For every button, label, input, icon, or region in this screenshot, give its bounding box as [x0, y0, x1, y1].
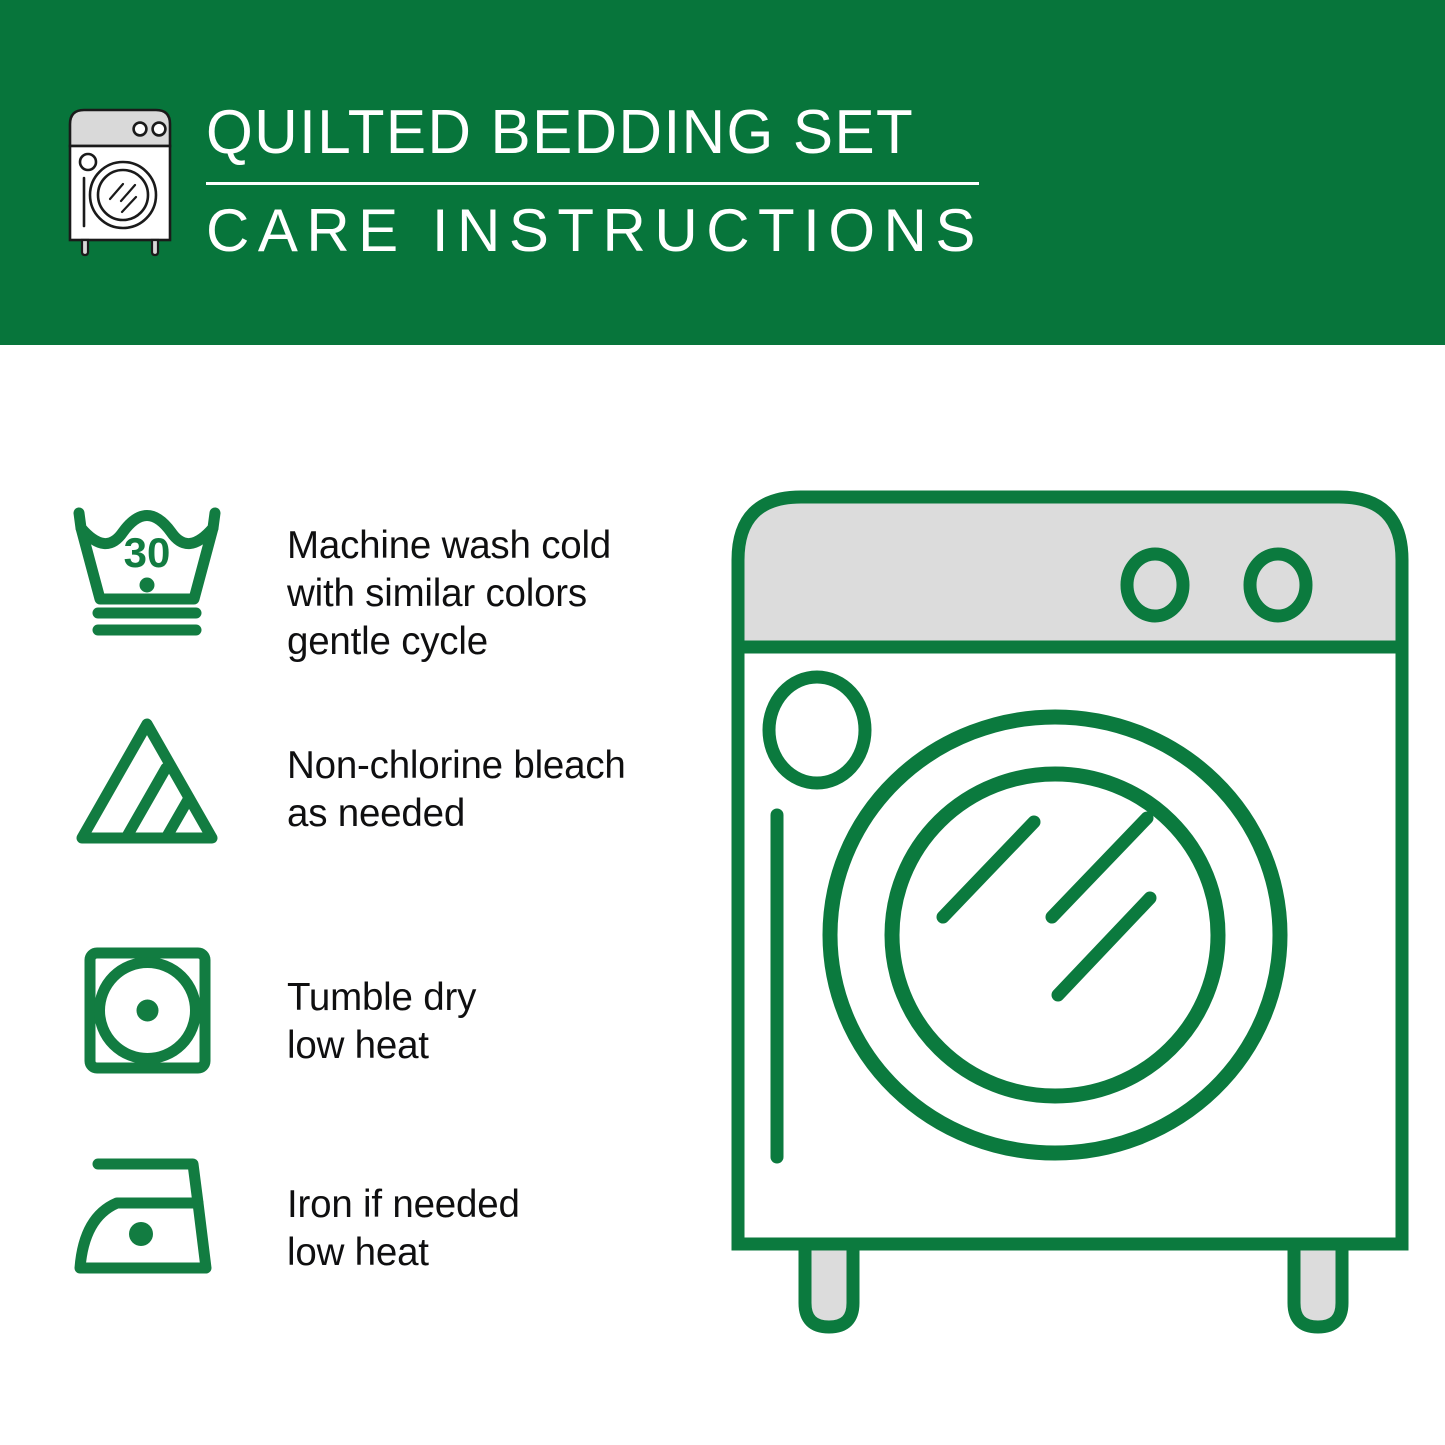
title-divider: [206, 182, 979, 185]
header-band: QUILTED BEDDING SET CARE INSTRUCTIONS: [0, 0, 1445, 345]
care-row-text: Non-chlorine bleach as needed: [287, 742, 626, 838]
svg-text:30: 30: [124, 529, 171, 576]
care-line: gentle cycle: [287, 618, 611, 666]
care-line: Machine wash cold: [287, 522, 611, 570]
care-row-text: Iron if needed low heat: [287, 1181, 520, 1277]
care-row: Non-chlorine bleach as needed: [62, 710, 626, 860]
care-row-text: Machine wash cold with similar colors ge…: [287, 522, 611, 666]
care-line: with similar colors: [287, 570, 611, 618]
header-content: QUILTED BEDDING SET CARE INSTRUCTIONS: [60, 96, 984, 263]
care-line: low heat: [287, 1229, 520, 1277]
page-title: QUILTED BEDDING SET: [206, 100, 961, 166]
care-line: Iron if needed: [287, 1181, 520, 1229]
iron-low-heat-icon: [62, 1145, 232, 1295]
front-load-washing-machine-illustration: [700, 455, 1440, 1385]
care-row: Iron if needed low heat: [62, 1145, 520, 1295]
page-subtitle: CARE INSTRUCTIONS: [206, 199, 984, 263]
care-instructions-page: QUILTED BEDDING SET CARE INSTRUCTIONS 30: [0, 0, 1445, 1445]
non-chlorine-bleach-triangle-icon: [62, 710, 232, 860]
care-line: low heat: [287, 1022, 476, 1070]
tumble-dry-low-icon: [62, 940, 232, 1090]
care-line: Non-chlorine bleach: [287, 742, 626, 790]
care-row-text: Tumble dry low heat: [287, 974, 476, 1070]
care-row: Tumble dry low heat: [62, 940, 476, 1090]
care-line: Tumble dry: [287, 974, 476, 1022]
care-row: 30 Machine wash cold with similar colors…: [62, 495, 611, 666]
wash-tub-30-gentle-icon: 30: [62, 495, 232, 645]
washing-machine-icon: [60, 102, 180, 257]
care-line: as needed: [287, 790, 626, 838]
header-titles: QUILTED BEDDING SET CARE INSTRUCTIONS: [206, 96, 984, 263]
